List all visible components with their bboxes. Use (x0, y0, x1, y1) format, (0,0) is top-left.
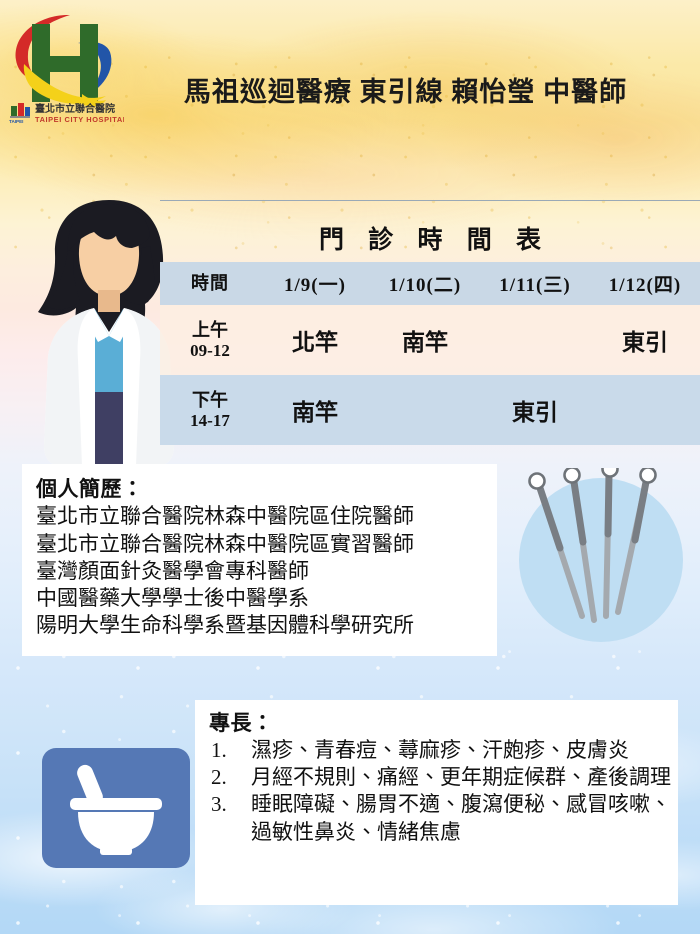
logo-name-zh: 臺北市立聯合醫院 (35, 102, 115, 115)
afternoon-period: 下午 (192, 390, 228, 410)
bio-line: 陽明大學生命科學系暨基因體科學研究所 (36, 612, 497, 639)
specialty-list: 濕疹、青春痘、蕁麻疹、汗皰疹、皮膚炎 月經不規則、痛經、更年期症候群、產後調理 … (209, 737, 678, 846)
table-row-morning: 上午 09-12 北竿 南竿 東引 (160, 305, 700, 375)
row-label-afternoon: 下午 14-17 (160, 375, 260, 445)
bio-line: 臺北市立聯合醫院林森中醫院區實習醫師 (36, 531, 497, 558)
header-cell-time: 時間 (160, 262, 260, 305)
morning-period: 上午 (192, 320, 228, 340)
list-item: 月經不規則、痛經、更年期症候群、產後調理 (211, 764, 678, 791)
morning-hours: 09-12 (160, 341, 260, 360)
mortar-and-pestle-icon (42, 748, 190, 868)
row-label-morning: 上午 09-12 (160, 305, 260, 375)
header-cell-day4: 1/12(四) (590, 262, 700, 305)
morning-day4: 東引 (590, 305, 700, 375)
morning-day1: 北竿 (260, 305, 370, 375)
afternoon-hours: 14-17 (160, 411, 260, 430)
bio-line: 臺北市立聯合醫院林森中醫院區住院醫師 (36, 503, 497, 530)
specialty-title: 專長： (209, 710, 678, 737)
schedule-table: 時間 1/9(一) 1/10(二) 1/11(三) 1/12(四) 上午 09-… (160, 262, 700, 445)
schedule-title: 門 診 時 間 表 (160, 220, 700, 256)
table-row-afternoon: 下午 14-17 南竿 東引 (160, 375, 700, 445)
logo-name-en: TAIPEI CITY HOSPITAL (35, 115, 124, 124)
list-item: 濕疹、青春痘、蕁麻疹、汗皰疹、皮膚炎 (211, 737, 678, 764)
bio-line: 中國醫藥大學學士後中醫學系 (36, 585, 497, 612)
bio-line: 臺灣顏面針灸醫學會專科醫師 (36, 558, 497, 585)
bio-title: 個人簡歷： (36, 476, 497, 503)
morning-day2: 南竿 (370, 305, 480, 375)
bio-card: 個人簡歷： 臺北市立聯合醫院林森中醫院區住院醫師 臺北市立聯合醫院林森中醫院區實… (22, 464, 497, 656)
list-item: 睡眠障礙、腸胃不適、腹瀉便秘、感冒咳嗽、過敏性鼻炎、情緒焦慮 (211, 791, 678, 846)
table-header-row: 時間 1/9(一) 1/10(二) 1/11(三) 1/12(四) (160, 262, 700, 305)
schedule-table-wrapper: 時間 1/9(一) 1/10(二) 1/11(三) 1/12(四) 上午 09-… (160, 262, 700, 445)
afternoon-day2 (370, 375, 480, 445)
header-cell-day1: 1/9(一) (260, 262, 370, 305)
poster-root: 臺北市立聯合醫院 TAIPEI CITY HOSPITAL TAIPEI 馬祖巡… (0, 0, 700, 934)
header-divider (160, 200, 700, 201)
afternoon-day3: 東引 (480, 375, 590, 445)
page-title: 馬祖巡迴醫療 東引線 賴怡瑩 中醫師 (118, 70, 693, 109)
morning-day3 (480, 305, 590, 375)
header-cell-day3: 1/11(三) (480, 262, 590, 305)
header-cell-day2: 1/10(二) (370, 262, 480, 305)
afternoon-day4 (590, 375, 700, 445)
hospital-logo: 臺北市立聯合醫院 TAIPEI CITY HOSPITAL TAIPEI (6, 8, 124, 126)
afternoon-day1: 南竿 (260, 375, 370, 445)
specialty-card: 專長： 濕疹、青春痘、蕁麻疹、汗皰疹、皮膚炎 月經不規則、痛經、更年期症候群、產… (195, 700, 678, 905)
acupuncture-needles-icon (512, 468, 690, 646)
logo-badge: TAIPEI (9, 119, 23, 124)
